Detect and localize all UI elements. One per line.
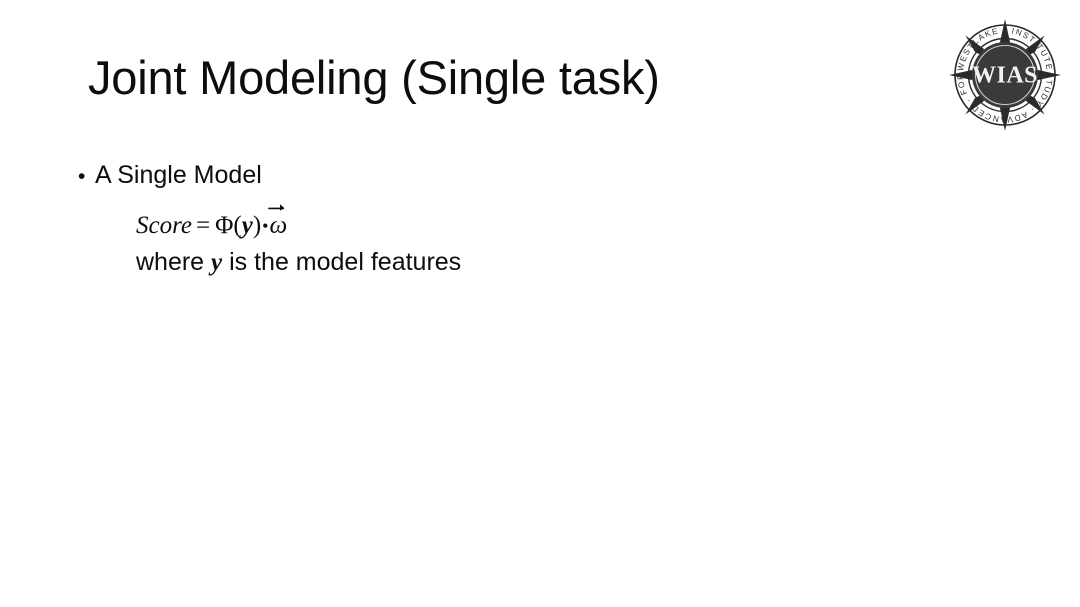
bullet-dot-icon: • — [78, 166, 95, 187]
formula-note-prefix: where — [136, 248, 211, 276]
formula-note-suffix: is the model features — [222, 248, 461, 276]
formula-equals: = — [196, 212, 210, 239]
wias-seal-logo: WESTLAKE · INSTITUTE STUDY · ADVANCED · … — [948, 18, 1062, 132]
math-block: Score=Φ(y)•ω where y is the model featur… — [136, 209, 978, 278]
page-title: Joint Modeling (Single task) — [88, 52, 660, 105]
bullet-item-a-single-model: • A Single Model — [78, 160, 978, 191]
formula-omega-symbol: ω — [269, 212, 287, 239]
slide-body: • A Single Model Score=Φ(y)•ω where y is… — [78, 160, 978, 278]
formula-note: where y is the model features — [136, 247, 978, 278]
score-formula: Score=Φ(y)•ω — [136, 209, 978, 241]
formula-omega-vector: ω — [269, 209, 287, 241]
formula-note-variable: y — [211, 249, 222, 276]
formula-dot-operator: • — [262, 216, 268, 236]
vector-arrow-icon — [268, 202, 286, 211]
formula-paren-close: ) — [253, 212, 261, 239]
formula-paren-open: ( — [233, 212, 241, 239]
formula-phi-symbol: Φ — [215, 212, 233, 239]
seal-center-text: WIAS — [972, 63, 1038, 89]
formula-lhs: Score — [136, 212, 192, 239]
slide-canvas: Joint Modeling (Single task) • A Single … — [0, 0, 1080, 607]
bullet-item-label: A Single Model — [95, 160, 262, 191]
formula-variable-y: y — [242, 212, 253, 239]
